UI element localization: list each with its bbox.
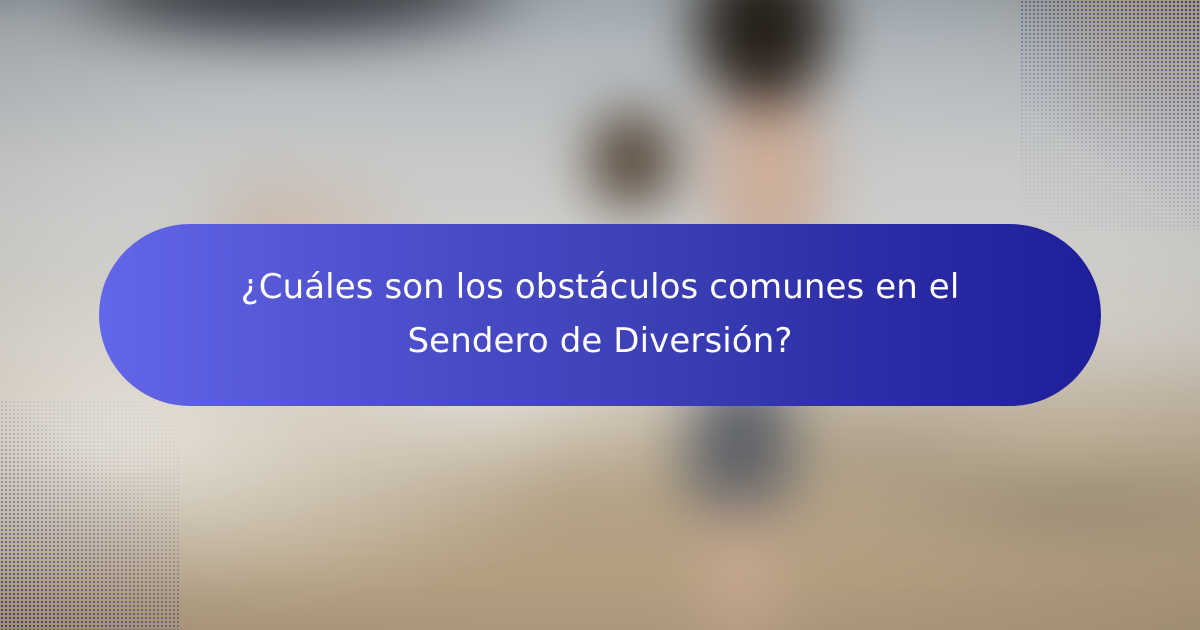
question-card-canvas: ¿Cuáles son los obstáculos comunes en el…: [0, 0, 1200, 630]
question-text: ¿Cuáles son los obstáculos comunes en el…: [230, 261, 970, 368]
question-pill: ¿Cuáles son los obstáculos comunes en el…: [99, 224, 1101, 406]
